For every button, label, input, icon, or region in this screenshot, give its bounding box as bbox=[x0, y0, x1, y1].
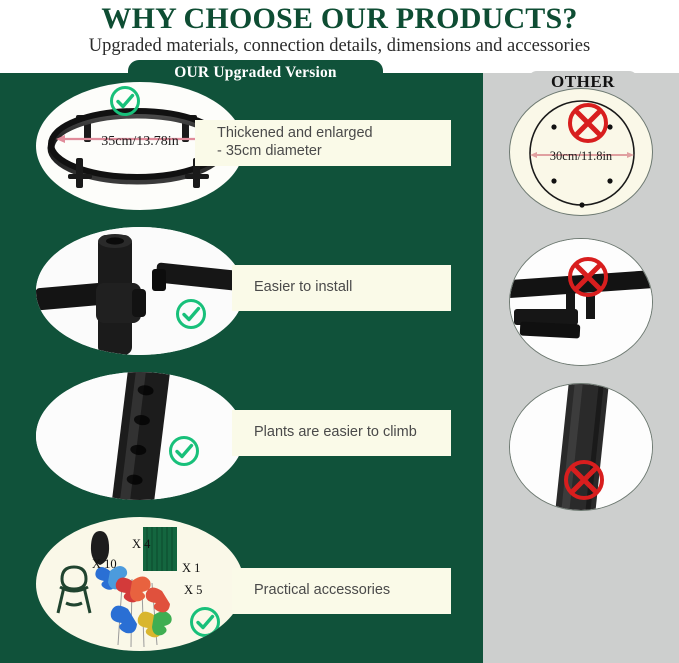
accessory-qty-cap: X 4 bbox=[132, 537, 150, 552]
other-dimension-label: 30cm/11.8in bbox=[550, 149, 612, 164]
ours-photo-textured-pole bbox=[36, 372, 244, 500]
row-install: Easier to install bbox=[0, 218, 483, 363]
check-icon bbox=[108, 84, 142, 118]
feature-label-line2: - 35cm diameter bbox=[217, 143, 322, 159]
x-icon bbox=[565, 100, 611, 146]
page-subtitle: Upgraded materials, connection details, … bbox=[0, 36, 679, 57]
row-accessories: X 4 X 1 X 10 X 5 Practical accessories bbox=[0, 508, 483, 653]
feature-label-dimension: Thickened and enlarged - 35cm diameter bbox=[195, 120, 451, 166]
ours-dimension-label: 35cm/13.78in bbox=[101, 134, 178, 150]
check-icon bbox=[167, 434, 201, 468]
row-climb: Plants are easier to climb bbox=[0, 363, 483, 508]
accessory-qty-clip: X 10 bbox=[92, 557, 117, 572]
accessory-qty-ties: X 1 bbox=[182, 561, 200, 576]
page-title: WHY CHOOSE OUR PRODUCTS? bbox=[0, 2, 679, 36]
feature-label-climb: Plants are easier to climb bbox=[232, 410, 451, 456]
check-icon bbox=[174, 297, 208, 331]
feature-label-line1: Thickened and enlarged bbox=[217, 125, 373, 141]
row-dimension: 35cm/13.78in Thickened and enlarged - 35… bbox=[0, 73, 483, 218]
x-icon bbox=[561, 457, 607, 503]
other-cell-climb bbox=[509, 383, 653, 511]
check-icon bbox=[188, 605, 222, 639]
ours-photo-accessories: X 4 X 1 X 10 X 5 bbox=[36, 517, 244, 651]
feature-label-install: Easier to install bbox=[232, 265, 451, 311]
other-cell-install bbox=[509, 238, 653, 366]
x-icon bbox=[565, 254, 611, 300]
infographic-page: WHY CHOOSE OUR PRODUCTS? Upgraded materi… bbox=[0, 0, 679, 663]
feature-label-accessories: Practical accessories bbox=[232, 568, 451, 614]
other-cell-dimension: 30cm/11.8in bbox=[509, 88, 653, 216]
ours-photo-connector bbox=[36, 227, 244, 355]
connector-illustration bbox=[36, 227, 244, 355]
textured-pole-illustration bbox=[36, 372, 244, 500]
accessory-qty-butterfly: X 5 bbox=[184, 583, 202, 598]
